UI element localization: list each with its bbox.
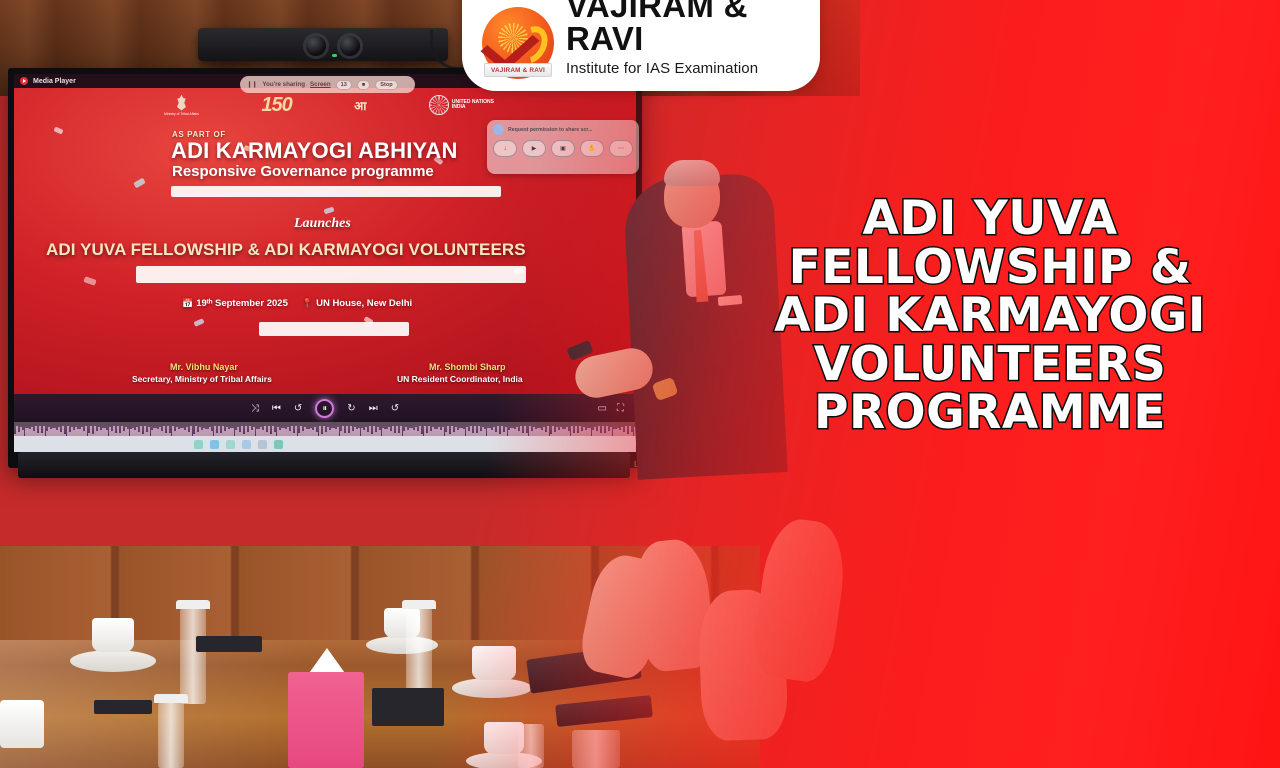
headline-line: PROGRAMME bbox=[712, 390, 1268, 437]
brand-text-block: VAJIRAM & RAVI Institute for IAS Examina… bbox=[566, 0, 804, 81]
checkmark-sun-logo-icon: VAJIRAM & RAVI bbox=[482, 7, 554, 79]
headline-text: ADI YUVAFELLOWSHIP &ADI KARMAYOGIVOLUNTE… bbox=[712, 196, 1268, 439]
headline-line: ADI KARMAYOGI bbox=[712, 293, 1268, 340]
logo-ribbon-label: VAJIRAM & RAVI bbox=[484, 63, 552, 77]
headline-line: ADI YUVA bbox=[712, 196, 1268, 243]
brand-title: VAJIRAM & RAVI bbox=[566, 0, 804, 55]
brand-subtitle: Institute for IAS Examination bbox=[566, 60, 804, 77]
brand-badge: VAJIRAM & RAVI VAJIRAM & RAVI Institute … bbox=[462, 0, 820, 91]
headline-line: FELLOWSHIP & bbox=[712, 245, 1268, 292]
thumbnail-canvas: LG Media Player bbox=[0, 0, 1280, 768]
headline-line: VOLUNTEERS bbox=[712, 342, 1268, 389]
